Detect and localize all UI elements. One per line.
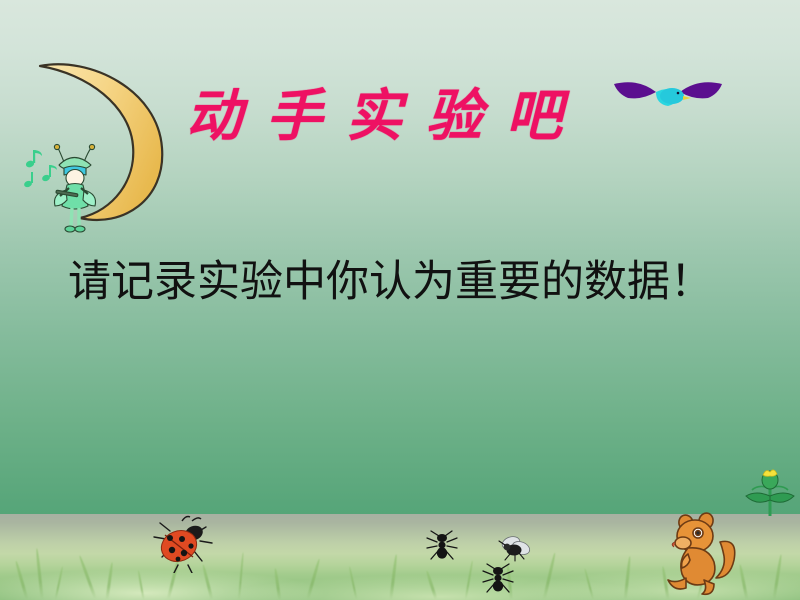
ladybug-icon	[148, 515, 220, 573]
fairy-icon	[46, 140, 104, 235]
flower-icon	[744, 466, 796, 518]
slide-subtitle: 请记录实验中你认为重要的数据！	[68, 258, 728, 308]
slide-title: 动 手 实 验 吧	[186, 86, 546, 148]
ant-right-icon	[480, 562, 516, 594]
presentation-slide: 动 手 实 验 吧 请记录实验中你认为重要的数据！	[0, 0, 800, 600]
bird-icon	[612, 68, 724, 122]
ant-left-icon	[425, 530, 459, 562]
fly-icon	[498, 534, 532, 562]
squirrel-icon	[664, 508, 738, 596]
